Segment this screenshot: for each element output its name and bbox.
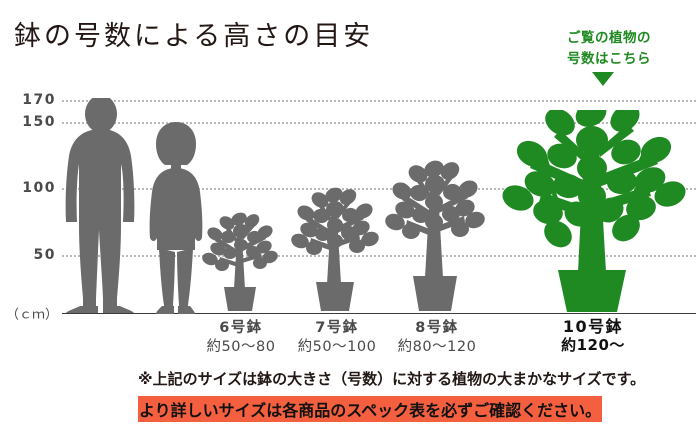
callout-line-1: ご覧の植物の [524, 28, 694, 49]
y-tick-50: 50 [0, 247, 56, 263]
height-guide-infographic: 鉢の号数による高さの目安 170 150 100 50 （ｃｍ） ご覧の植物の … [0, 0, 700, 430]
plant-8 [382, 160, 490, 313]
caption-pot-8-label: 8号鉢 [362, 319, 512, 338]
plant-7 [288, 184, 384, 313]
note-line-2-highlighted: より詳しいサイズは各商品のスペック表を必ずご確認ください。 [138, 396, 602, 422]
page-title: 鉢の号数による高さの目安 [14, 14, 373, 53]
plant-10-highlight [498, 110, 688, 314]
caption-pot-8: 8号鉢 約80〜120 [362, 319, 512, 357]
gridline-170 [62, 100, 696, 102]
caption-pot-10-range: 約120〜 [518, 336, 668, 355]
y-axis-unit-label: （ｃｍ） [0, 304, 58, 323]
caption-pot-10-label: 10号鉢 [518, 317, 668, 336]
plant-6 [198, 207, 284, 313]
callout-text: ご覧の植物の 号数はこちら [524, 28, 694, 70]
note-line-1: ※上記のサイズは鉢の大きさ（号数）に対する植物の大まかなサイズです。 [138, 368, 645, 389]
caption-pot-8-range: 約80〜120 [362, 338, 512, 357]
callout-down-arrow-icon [592, 72, 614, 86]
caption-pot-10: 10号鉢 約120〜 [518, 317, 668, 355]
y-tick-150: 150 [0, 114, 56, 130]
y-tick-100: 100 [0, 180, 56, 196]
callout-line-2: 号数はこちら [524, 49, 694, 70]
y-tick-170: 170 [0, 92, 56, 108]
human-male-silhouette [62, 98, 140, 315]
